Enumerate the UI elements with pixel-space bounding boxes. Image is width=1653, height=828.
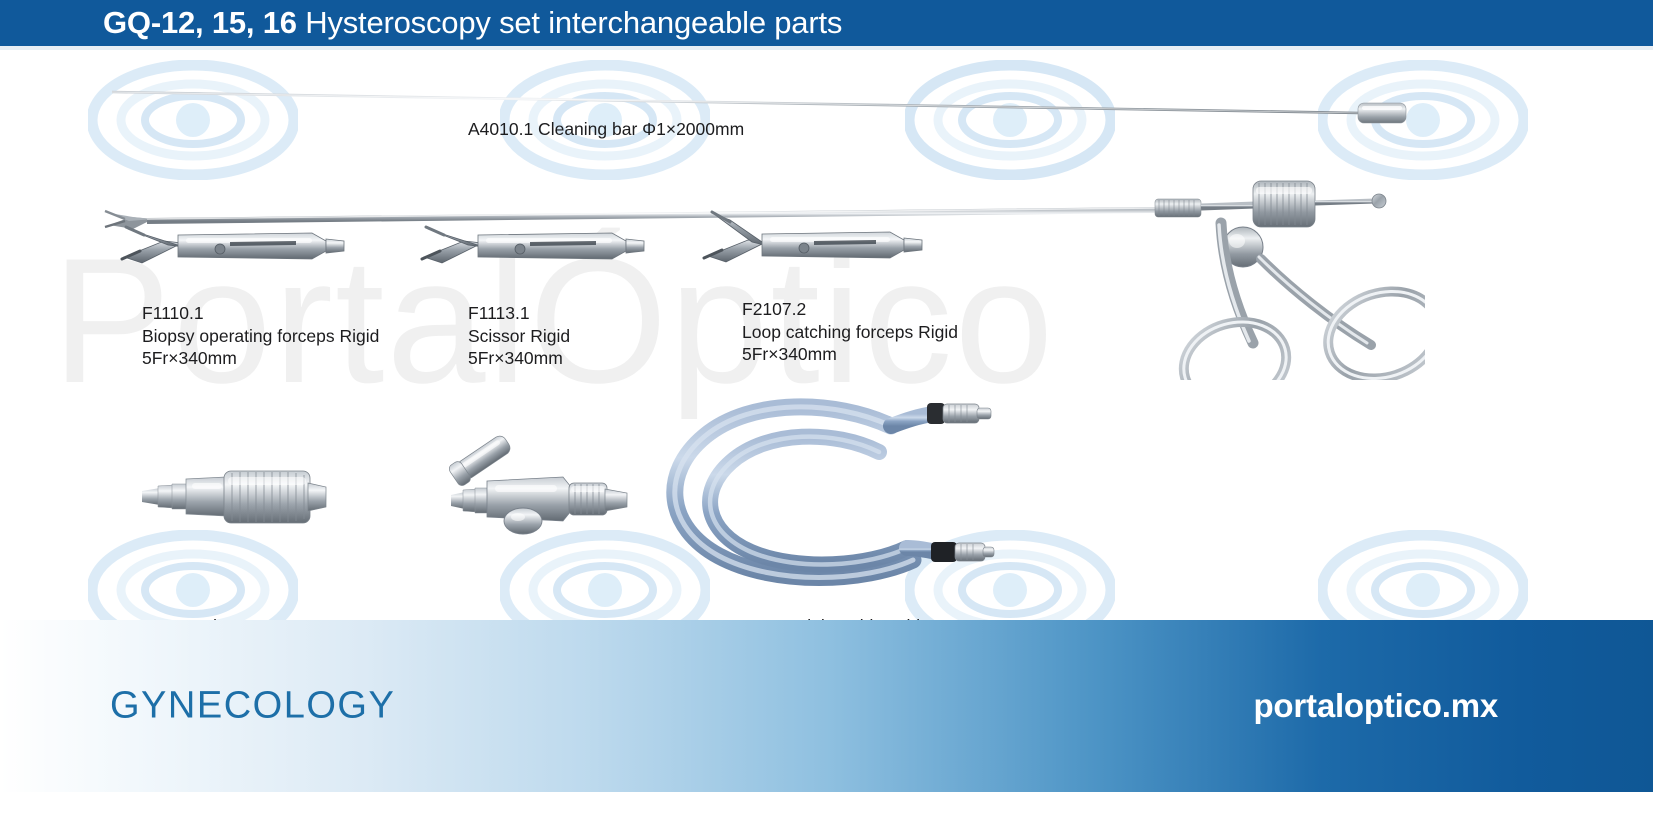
footer-site-label: portaloptico.mx — [1253, 687, 1498, 725]
luer-lock-adaptor-image — [445, 425, 645, 545]
scissor-rigid-image — [420, 205, 650, 295]
eye-logo-watermark — [1318, 530, 1528, 620]
header-product-code: GQ-12, 15, 16 — [103, 5, 297, 40]
page-header: GQ-12, 15, 16 Hysteroscopy set interchan… — [0, 0, 1653, 46]
catalog-page: GQ-12, 15, 16 Hysteroscopy set interchan… — [0, 0, 1653, 828]
loop-catching-forceps-image — [700, 200, 930, 295]
product-label-a4010-1: A4010.1 Cleaning bar Φ1×2000mm — [468, 118, 888, 141]
biopsy-operating-forceps-image — [120, 205, 350, 295]
eye-logo-watermark — [88, 60, 298, 180]
product-label-f1113-1: F1113.1 Scissor Rigid 5Fr×340mm — [468, 302, 728, 370]
product-label-f2107-2: F2107.2 Loop catching forceps Rigid 5Fr×… — [742, 298, 1042, 366]
footer-specialty-label: GYNECOLOGY — [110, 685, 395, 728]
page-footer: GYNECOLOGY portaloptico.mx — [0, 620, 1653, 792]
product-label-f1110-1: F1110.1 Biopsy operating forceps Rigid 5… — [142, 302, 472, 370]
header-title: GQ-12, 15, 16 Hysteroscopy set interchan… — [103, 5, 842, 41]
header-product-description: Hysteroscopy set interchangeable parts — [297, 5, 842, 40]
product-gallery: PortalÓptico — [0, 50, 1653, 620]
eye-logo-watermark — [500, 530, 710, 620]
footer-bottom-spacer — [0, 792, 1653, 828]
adaptor-image — [140, 455, 350, 540]
eye-logo-watermark — [905, 530, 1115, 620]
eye-logo-watermark — [88, 530, 298, 620]
light-guide-cable-image — [655, 370, 995, 600]
eye-logo-watermark — [1318, 60, 1528, 180]
eye-logo-watermark — [905, 60, 1115, 180]
